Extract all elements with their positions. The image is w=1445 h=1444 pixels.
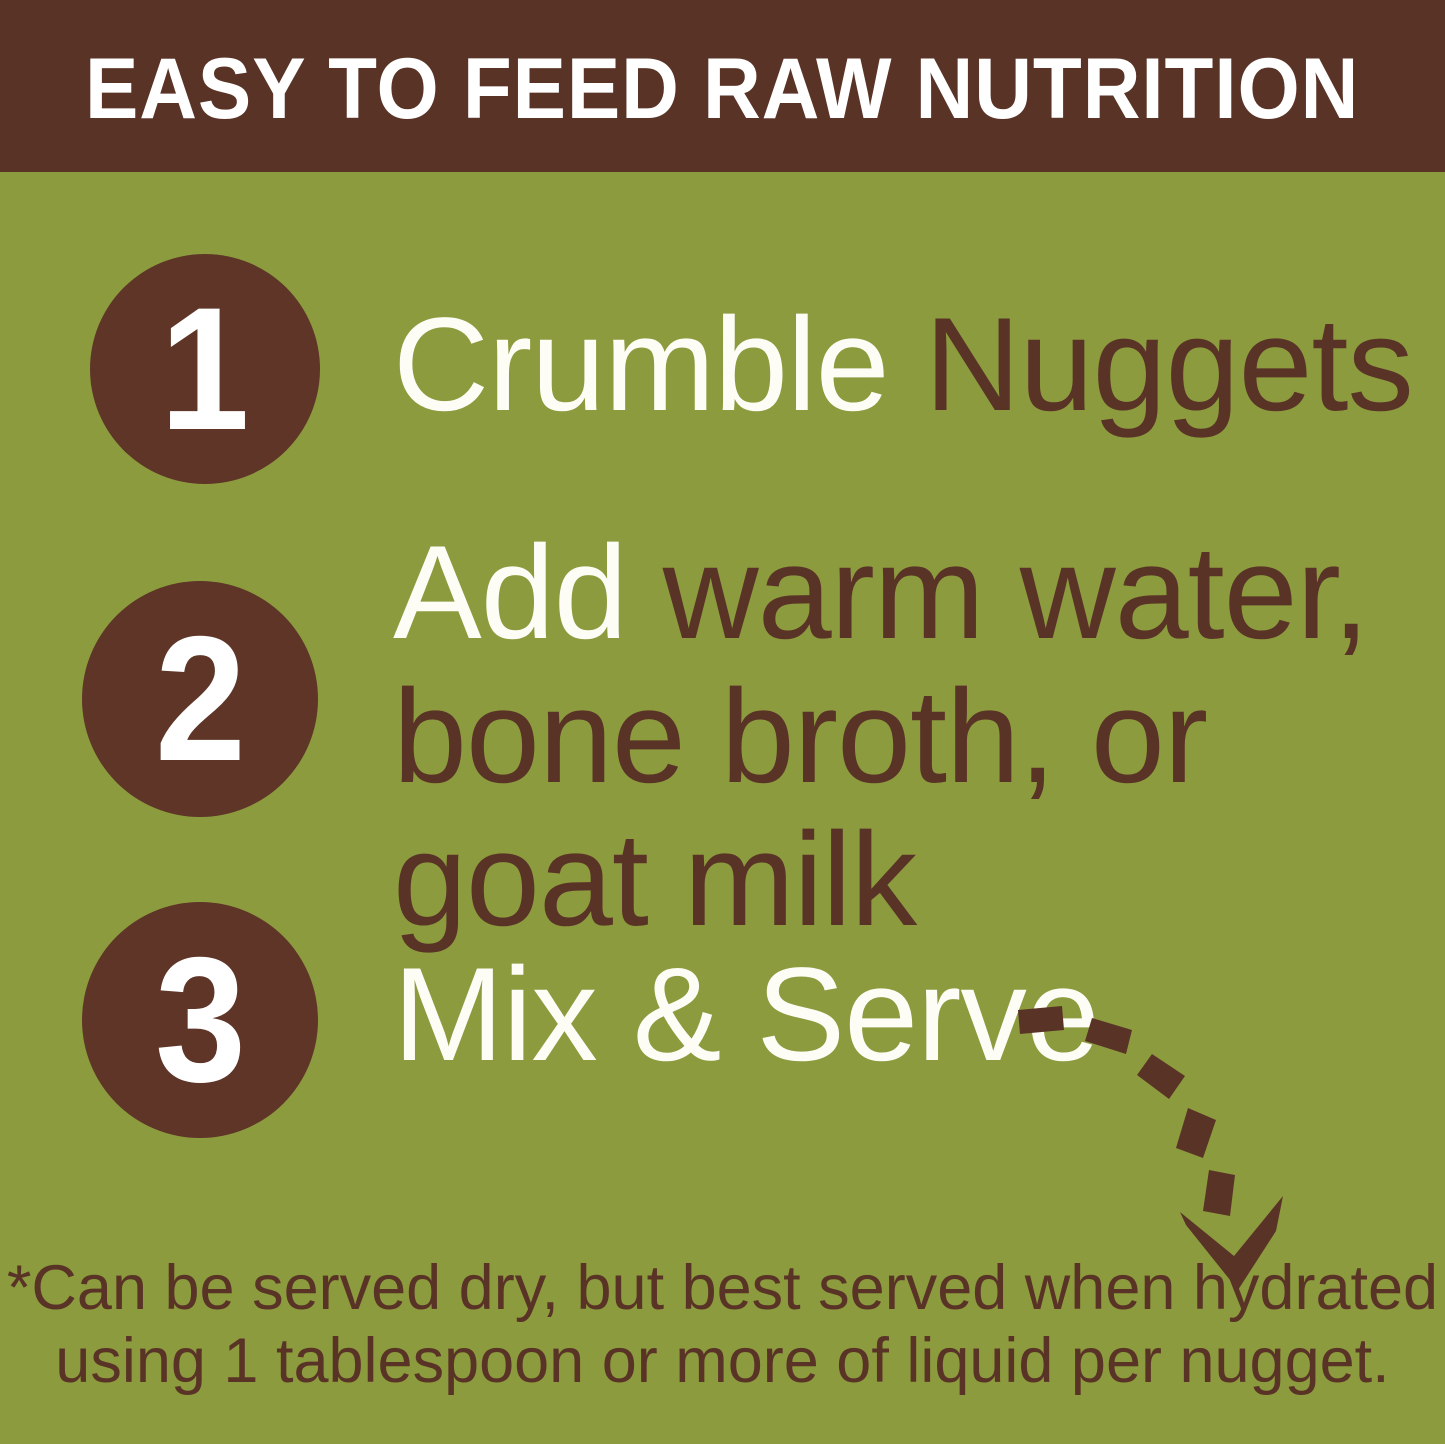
- step-2-line-3: goat milk: [393, 809, 1369, 953]
- page-title: EASY TO FEED RAW NUTRITION: [85, 46, 1359, 132]
- step-2-line-1-brown: warm water,: [663, 519, 1369, 667]
- step-number-badge-2: 2: [82, 581, 318, 817]
- step-2-line-1-white: Add: [393, 519, 663, 667]
- step-number-badge-3: 3: [82, 902, 318, 1138]
- step-2-line-2: bone broth, or: [393, 666, 1369, 810]
- step-text-2: Add warm water, bone broth, or goat milk: [393, 522, 1369, 953]
- step-2-line-1: Add warm water,: [393, 522, 1369, 666]
- step-2-line-3-brown: goat milk: [393, 806, 916, 954]
- step-1-line-1-white: Crumble: [393, 291, 925, 439]
- feeding-instructions-poster: EASY TO FEED RAW NUTRITION 1 Crumble Nug…: [0, 0, 1445, 1444]
- footnote-line-2: using 1 tablespoon or more of liquid per…: [0, 1325, 1445, 1398]
- step-number-label-2: 2: [154, 610, 245, 788]
- step-number-badge-1: 1: [90, 254, 320, 484]
- footnote: *Can be served dry, but best served when…: [0, 1252, 1445, 1398]
- curved-dashed-arrow-icon: [980, 972, 1340, 1292]
- step-1-line-1-brown: Nuggets: [925, 291, 1413, 439]
- step-number-label-1: 1: [160, 282, 250, 457]
- step-2-line-2-brown: bone broth, or: [393, 663, 1207, 811]
- footnote-line-1: *Can be served dry, but best served when…: [0, 1252, 1445, 1325]
- header-banner: EASY TO FEED RAW NUTRITION: [0, 0, 1445, 172]
- step-number-label-3: 3: [154, 931, 245, 1109]
- step-text-1: Crumble Nuggets: [393, 294, 1413, 438]
- steps-list: 1 Crumble Nuggets 2 Add warm water, bone…: [0, 172, 1445, 1172]
